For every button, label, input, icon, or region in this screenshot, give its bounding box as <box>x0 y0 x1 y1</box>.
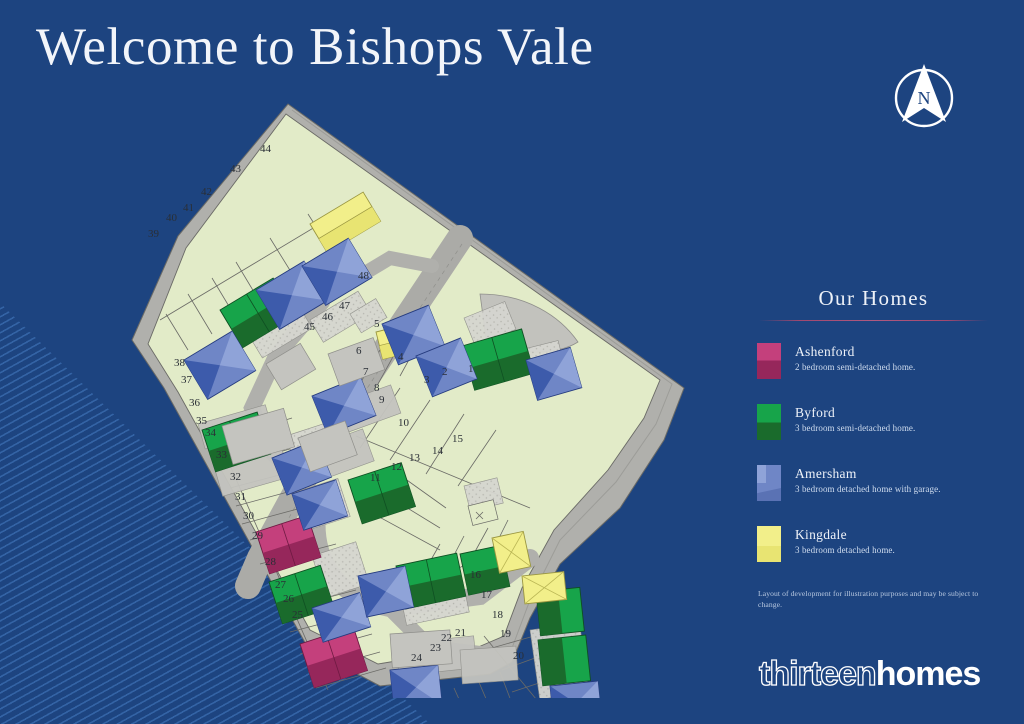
legend-item-desc: 3 bedroom detached home with garage. <box>795 484 941 494</box>
plot-number-label[interactable]: 11 <box>370 472 381 484</box>
plot-number-label[interactable]: 25 <box>292 609 304 621</box>
plot-number-label[interactable]: 30 <box>243 510 255 522</box>
plot-number-label[interactable]: 48 <box>358 270 370 282</box>
plot-number-label[interactable]: 18 <box>492 609 504 621</box>
legend-item[interactable]: Byford3 bedroom semi-detached home. <box>757 404 990 440</box>
legend-item[interactable]: Ashenford2 bedroom semi-detached home. <box>757 343 990 379</box>
legend-item[interactable]: Amersham3 bedroom detached home with gar… <box>757 465 990 501</box>
plot-number-label[interactable]: 17 <box>481 589 493 601</box>
brand-outline-text: thirteen <box>759 655 876 693</box>
plot-number-label[interactable]: 45 <box>304 321 316 333</box>
legend-item-desc: 2 bedroom semi-detached home. <box>795 362 915 372</box>
legend-divider <box>759 320 988 321</box>
plot-number-label[interactable]: 40 <box>166 212 178 224</box>
legend-swatch <box>757 343 781 379</box>
plot-number-label[interactable]: 35 <box>196 415 208 427</box>
legend-swatch <box>757 526 781 562</box>
plot-number-label[interactable]: 2 <box>442 366 448 378</box>
plot-number-label[interactable]: 10 <box>398 417 410 429</box>
legend-item-name: Kingdale <box>795 527 895 543</box>
plot-number-label[interactable]: 28 <box>265 556 277 568</box>
plot-number-label[interactable]: 31 <box>235 491 246 503</box>
legend-swatch <box>757 404 781 440</box>
legend-title: Our Homes <box>757 286 990 311</box>
page-title: Welcome to Bishops Vale <box>36 20 594 76</box>
legend-item-name: Byford <box>795 405 915 421</box>
legend-item-desc: 3 bedroom detached home. <box>795 545 895 555</box>
plot-number-label[interactable]: 29 <box>252 530 264 542</box>
legend-item-name: Amersham <box>795 466 941 482</box>
plot-number-label[interactable]: 21 <box>455 627 466 639</box>
plot-number-label[interactable]: 44 <box>260 143 272 155</box>
legend-disclaimer: Layout of development for illustration p… <box>758 588 986 610</box>
plot-number-label[interactable]: 23 <box>430 642 442 654</box>
compass-rose-icon: N <box>884 58 964 138</box>
plot-number-label[interactable]: 34 <box>205 427 217 439</box>
plot-number-label[interactable]: 15 <box>452 433 464 445</box>
plot-number-label[interactable]: 27 <box>275 579 287 591</box>
plot-number-label[interactable]: 38 <box>174 357 186 369</box>
plot-number-label[interactable]: 12 <box>391 461 402 473</box>
plot-number-label[interactable]: 5 <box>374 318 380 330</box>
plot-number-label[interactable]: 46 <box>322 311 334 323</box>
plot-number-label[interactable]: 42 <box>201 186 212 198</box>
site-plan-map[interactable]: 1234567891011121314151617181920212223242… <box>60 88 720 698</box>
plot-number-label[interactable]: 19 <box>500 628 512 640</box>
legend-item[interactable]: Kingdale3 bedroom detached home. <box>757 526 990 562</box>
plot-number-label[interactable]: 39 <box>148 228 160 240</box>
plot-number-label[interactable]: 33 <box>216 449 228 461</box>
legend-item-name: Ashenford <box>795 344 915 360</box>
plot-number-label[interactable]: 13 <box>409 452 421 464</box>
legend-items: Ashenford2 bedroom semi-detached home.By… <box>757 343 990 562</box>
plot-number-label[interactable]: 32 <box>230 471 241 483</box>
plot-number-label[interactable]: 26 <box>283 593 295 605</box>
plot-number-label[interactable]: 41 <box>183 202 194 214</box>
plot-number-label[interactable]: 6 <box>356 345 362 357</box>
plot-number-label[interactable]: 47 <box>339 300 351 312</box>
plot-number-label[interactable]: 9 <box>379 394 385 406</box>
brand-logo[interactable]: thirteenhomes <box>759 655 980 695</box>
plot-number-label[interactable]: 14 <box>432 445 444 457</box>
plot-number-label[interactable]: 37 <box>181 374 193 386</box>
plot-number-label[interactable]: 16 <box>470 569 482 581</box>
plot-number-label[interactable]: 24 <box>411 652 423 664</box>
legend-panel: Our Homes Ashenford2 bedroom semi-detach… <box>757 286 990 587</box>
plot-number-label[interactable]: 7 <box>363 366 369 378</box>
plot-number-label[interactable]: 4 <box>398 351 404 363</box>
plot-number-label[interactable]: 3 <box>424 374 430 386</box>
brand-solid-text: homes <box>876 655 981 693</box>
compass-north-label: N <box>918 88 931 108</box>
plot-number-label[interactable]: 36 <box>189 397 201 409</box>
site-plan-poster: Welcome to Bishops Vale N <box>0 0 1024 724</box>
legend-item-desc: 3 bedroom semi-detached home. <box>795 423 915 433</box>
plot-number-label[interactable]: 20 <box>513 650 525 662</box>
plot-number-label[interactable]: 22 <box>441 632 452 644</box>
plot-number-label[interactable]: 43 <box>230 163 242 175</box>
plot-number-label[interactable]: 1 <box>468 363 474 375</box>
legend-swatch <box>757 465 781 501</box>
plot-number-label[interactable]: 8 <box>374 382 380 394</box>
